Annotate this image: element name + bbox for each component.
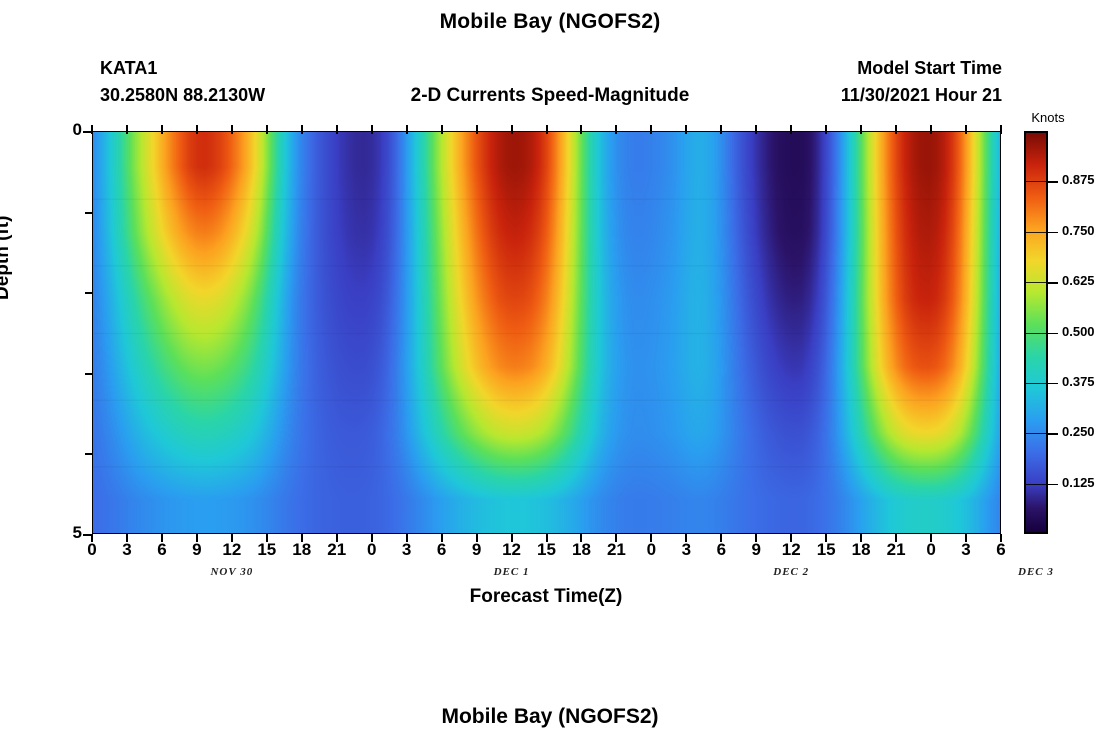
x-axis-tick-top xyxy=(860,125,862,134)
x-axis-day-label: DEC 3 xyxy=(991,566,1081,578)
x-axis-tick-top xyxy=(91,125,93,134)
x-axis-tick-top xyxy=(406,125,408,134)
y-axis-tick-label: 0 xyxy=(42,120,82,140)
model-start-time-value: 11/30/2021 Hour 21 xyxy=(841,85,1002,106)
y-axis-title: Depth (ft) xyxy=(0,216,14,300)
x-axis-tick-top xyxy=(650,125,652,134)
colorbar-segment-line xyxy=(1026,383,1046,384)
x-axis-tick-top xyxy=(720,125,722,134)
colorbar-tick xyxy=(1048,433,1058,435)
x-axis-tick-top xyxy=(965,125,967,134)
colorbar-tick-label: 0.375 xyxy=(1062,374,1095,389)
x-axis-tick-top xyxy=(126,125,128,134)
x-axis-tick-top xyxy=(825,125,827,134)
heatmap-plot-area xyxy=(92,131,1001,534)
x-axis-tick-top xyxy=(441,125,443,134)
colorbar-tick xyxy=(1048,484,1058,486)
colorbar-tick xyxy=(1048,383,1058,385)
y-axis-minor-tick xyxy=(85,453,92,455)
x-axis-tick-top xyxy=(231,125,233,134)
colorbar-tick xyxy=(1048,181,1058,183)
colorbar-tick-label: 0.750 xyxy=(1062,223,1095,238)
x-axis-tick-top xyxy=(161,125,163,134)
colorbar-tick-label: 0.125 xyxy=(1062,475,1095,490)
colorbar-tick-label: 0.625 xyxy=(1062,273,1095,288)
x-axis-tick-top xyxy=(755,125,757,134)
colorbar-tick-label: 0.875 xyxy=(1062,172,1095,187)
colorbar-units-label: Knots xyxy=(1018,110,1078,125)
page-title: Mobile Bay (NGOFS2) xyxy=(0,10,1100,34)
colorbar-segment-line xyxy=(1026,181,1046,182)
colorbar-tick xyxy=(1048,232,1058,234)
x-axis-day-label: DEC 1 xyxy=(467,566,557,578)
heatmap-canvas xyxy=(93,132,1000,533)
footer-title: Mobile Bay (NGOFS2) xyxy=(0,705,1100,729)
x-axis-tick-top xyxy=(301,125,303,134)
x-axis-tick-top xyxy=(546,125,548,134)
x-axis-tick-top xyxy=(1000,125,1002,134)
x-axis-title: Forecast Time(Z) xyxy=(0,586,1092,608)
x-axis-tick-top xyxy=(371,125,373,134)
colorbar-tick xyxy=(1048,333,1058,335)
x-axis-tick-top xyxy=(685,125,687,134)
x-axis-tick-top xyxy=(580,125,582,134)
x-axis-day-label: DEC 2 xyxy=(746,566,836,578)
x-axis-tick-top xyxy=(615,125,617,134)
colorbar-segment-line xyxy=(1026,232,1046,233)
x-axis-tick-top xyxy=(336,125,338,134)
model-start-time-label: Model Start Time xyxy=(857,58,1002,79)
y-axis-minor-tick xyxy=(85,373,92,375)
x-axis-tick-top xyxy=(511,125,513,134)
colorbar-segment-line xyxy=(1026,484,1046,485)
x-axis-tick-top xyxy=(895,125,897,134)
colorbar-segment-line xyxy=(1026,282,1046,283)
x-axis-tick-label: 6 xyxy=(981,540,1021,560)
colorbar-segment-line xyxy=(1026,333,1046,334)
y-axis-minor-tick xyxy=(85,212,92,214)
colorbar-tick xyxy=(1048,282,1058,284)
colorbar-tick-label: 0.250 xyxy=(1062,424,1095,439)
x-axis-day-label: NOV 30 xyxy=(187,566,277,578)
colorbar: 0.8750.7500.6250.5000.3750.2500.125 xyxy=(1024,131,1100,534)
x-axis-tick-top xyxy=(790,125,792,134)
station-id: KATA1 xyxy=(100,58,157,79)
y-axis-minor-tick xyxy=(85,292,92,294)
colorbar-tick-label: 0.500 xyxy=(1062,324,1095,339)
x-axis-tick-top xyxy=(196,125,198,134)
colorbar-segment-line xyxy=(1026,433,1046,434)
x-axis-tick-top xyxy=(476,125,478,134)
x-axis-tick-top xyxy=(266,125,268,134)
x-axis-tick-top xyxy=(930,125,932,134)
